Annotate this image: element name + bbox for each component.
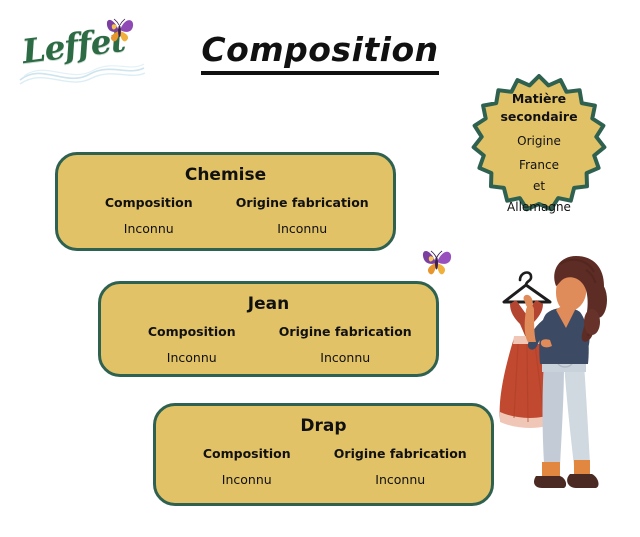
page-title-text: Composition [201,30,438,75]
composition-card-drap[interactable]: Drap Composition Origine fabrication Inc… [153,403,494,506]
label-composition: Composition [170,446,324,461]
label-origine-fabrication: Origine fabrication [226,195,380,210]
label-origine-fabrication: Origine fabrication [324,446,478,461]
badge-origin-value1: France [519,156,559,174]
badge-title-line1: Matière [500,90,577,108]
badge-title-line2: secondaire [500,108,577,126]
badge-origin-value2: et [533,177,545,195]
top-shape [539,306,588,364]
label-composition: Composition [72,195,226,210]
card-labels-row: Composition Origine fabrication [58,195,393,210]
value-composition: Inconnu [72,221,226,236]
value-origine-fabrication: Inconnu [324,472,478,487]
value-composition: Inconnu [115,350,269,365]
butterfly-icon [420,245,454,277]
label-origine-fabrication: Origine fabrication [269,324,423,339]
card-labels-row: Composition Origine fabrication [156,446,491,461]
jeans-shape [542,360,590,466]
card-labels-row: Composition Origine fabrication [101,324,436,339]
badge-origin-label: Origine [517,132,561,150]
card-title: Drap [156,416,491,436]
value-composition: Inconnu [170,472,324,487]
shoes-shape [534,460,599,488]
value-origine-fabrication: Inconnu [269,350,423,365]
composition-card-jean[interactable]: Jean Composition Origine fabrication Inc… [98,281,439,377]
woman-holding-dress-illustration [498,252,638,500]
card-values-row: Inconnu Inconnu [58,221,393,236]
matiere-secondaire-badge: Matière secondaire Origine France et All… [470,74,608,222]
card-values-row: Inconnu Inconnu [156,472,491,487]
card-title: Chemise [58,165,393,185]
page-title: Composition [0,30,640,69]
card-values-row: Inconnu Inconnu [101,350,436,365]
badge-origin-value3: Allemagne [507,198,571,216]
poster-canvas: Leffet Composition Matière secondaire Or… [0,0,640,537]
value-origine-fabrication: Inconnu [226,221,380,236]
composition-card-chemise[interactable]: Chemise Composition Origine fabrication … [55,152,396,251]
card-title: Jean [101,294,436,314]
label-composition: Composition [115,324,269,339]
